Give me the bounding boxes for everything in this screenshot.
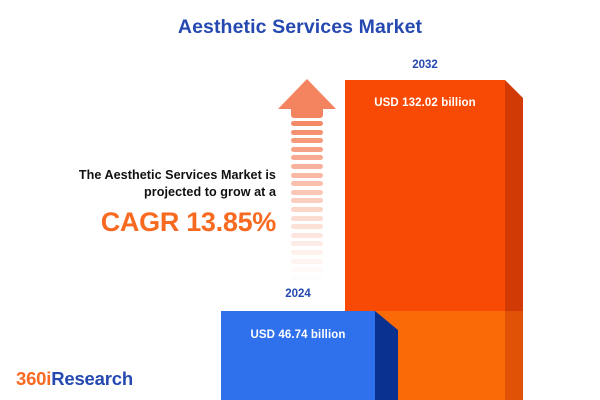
brand-logo: 360iResearch — [16, 368, 133, 390]
arrow-shaft-stripe — [291, 121, 323, 126]
bar-2024-front-face — [221, 311, 375, 400]
arrow-shaft-stripe — [291, 267, 323, 272]
arrow-shaft-stripe — [291, 190, 323, 195]
arrow-shaft-stripe — [291, 155, 323, 160]
arrow-shaft-stripe — [291, 130, 323, 135]
bar-2032-value-label: USD 132.02 billion — [345, 97, 505, 109]
arrow-shaft-stripe — [291, 164, 323, 169]
page-title: Aesthetic Services Market — [0, 16, 600, 39]
arrow-shaft-stripe — [291, 250, 323, 255]
bar-label-2032: 2032 — [345, 59, 505, 71]
arrow-neck — [291, 109, 323, 118]
bar-2024-value-label: USD 46.74 billion — [221, 329, 375, 341]
arrow-shaft-stripe — [291, 233, 323, 238]
arrow-shaft-stripe — [291, 207, 323, 212]
arrow-shaft-stripe — [291, 224, 323, 229]
arrow-up-head-icon — [278, 79, 336, 111]
arrow-shaft-stripe — [291, 216, 323, 221]
bar-2032-front-face-upper — [345, 80, 505, 311]
cagr-value: CAGR 13.85% — [18, 207, 276, 238]
brand-logo-suffix: Research — [51, 368, 133, 389]
arrow-shaft-stripe — [291, 173, 323, 178]
arrow-shaft-stripe — [291, 147, 323, 152]
brand-logo-prefix: 360i — [16, 368, 51, 389]
arrow-shaft-stripe — [291, 138, 323, 143]
bar-label-2024: 2024 — [221, 288, 375, 300]
statement-block: The Aesthetic Services Market is project… — [18, 167, 276, 238]
bar-2024: USD 46.74 billion — [221, 311, 398, 400]
growth-arrow-icon — [278, 79, 336, 294]
arrow-shaft-stripe — [291, 276, 323, 281]
arrow-shaft-stripe — [291, 181, 323, 186]
bar-2032-side-face-lower — [505, 311, 523, 400]
arrow-shaft-stripe — [291, 198, 323, 203]
bar-2024-side-face — [375, 311, 398, 400]
statement-line-2: projected to grow at a — [18, 184, 276, 201]
statement-line-1: The Aesthetic Services Market is — [18, 167, 276, 184]
arrow-shaft-stripe — [291, 241, 323, 246]
infographic-canvas: Aesthetic Services Market 2032 USD 132.0… — [0, 0, 600, 400]
arrow-shaft-stripe — [291, 259, 323, 264]
